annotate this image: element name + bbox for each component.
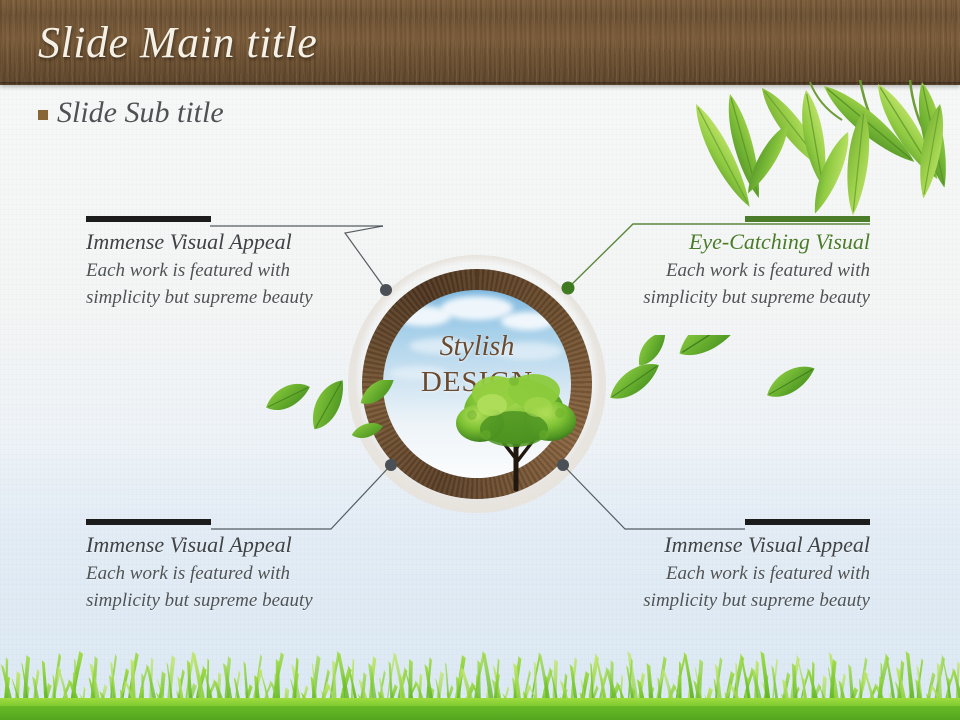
slide-canvas: Slide Main title Slide Sub title	[0, 0, 960, 720]
callout-bottom-right[interactable]: Immense Visual Appeal Each work is featu…	[600, 519, 870, 614]
connector-dot-bottom-left[interactable]	[385, 459, 397, 471]
callout-body-line2: simplicity but supreme beauty	[600, 588, 870, 614]
callout-top-left[interactable]: Immense Visual Appeal Each work is featu…	[86, 216, 313, 311]
callout-title[interactable]: Immense Visual Appeal	[86, 530, 313, 560]
callout-accent-bar	[745, 216, 870, 222]
callout-accent-bar	[745, 519, 870, 525]
callout-accent-bar	[86, 216, 211, 222]
callout-title[interactable]: Immense Visual Appeal	[600, 530, 870, 560]
callout-body-line2: simplicity but supreme beauty	[602, 285, 870, 311]
callout-bottom-left[interactable]: Immense Visual Appeal Each work is featu…	[86, 519, 313, 614]
callout-body-line2: simplicity but supreme beauty	[86, 588, 313, 614]
callout-title[interactable]: Eye-Catching Visual	[602, 227, 870, 257]
callout-accent-bar	[86, 519, 211, 525]
callout-body-line1: Each work is featured with	[600, 561, 870, 587]
callout-top-right[interactable]: Eye-Catching Visual Each work is feature…	[602, 216, 870, 311]
callout-title[interactable]: Immense Visual Appeal	[86, 227, 313, 257]
callout-body-line2: simplicity but supreme beauty	[86, 285, 313, 311]
connector-dot-top-right[interactable]	[562, 282, 575, 295]
connector-dot-top-left[interactable]	[380, 284, 392, 296]
callout-body-line1: Each work is featured with	[86, 561, 313, 587]
connector-dot-bottom-right[interactable]	[557, 459, 569, 471]
callout-body-line1: Each work is featured with	[602, 258, 870, 284]
callout-body-line1: Each work is featured with	[86, 258, 313, 284]
